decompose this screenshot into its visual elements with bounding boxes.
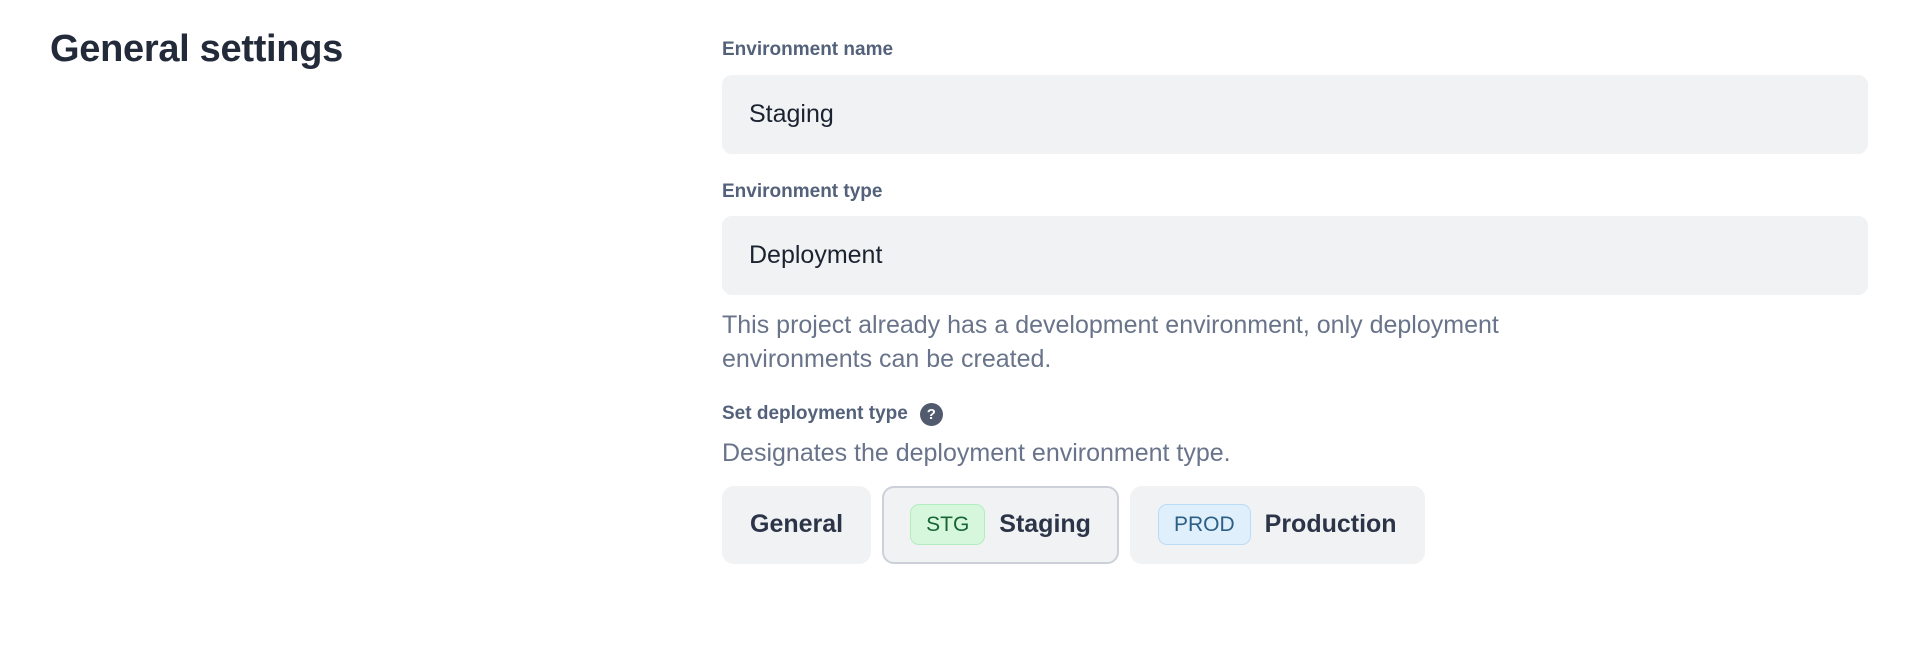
environment-type-label: Environment type (722, 180, 1868, 205)
deployment-type-description: Designates the deployment environment ty… (722, 437, 1868, 470)
stg-badge: STG (910, 504, 985, 545)
environment-name-input[interactable] (722, 75, 1868, 154)
environment-name-field-group: Environment name (722, 38, 1868, 154)
general-settings-page: General settings Environment name Enviro… (0, 0, 1916, 652)
deployment-type-option-label: Staging (999, 510, 1091, 539)
deployment-type-option-general[interactable]: General (722, 486, 871, 564)
deployment-type-label: Set deployment type (722, 402, 908, 427)
environment-type-field-group: Environment type This project already ha… (722, 180, 1868, 376)
deployment-type-options: General STG Staging PROD Production (722, 486, 1868, 564)
deployment-type-option-staging[interactable]: STG Staging (882, 486, 1119, 564)
environment-type-input[interactable] (722, 216, 1868, 295)
question-mark-icon[interactable]: ? (920, 403, 943, 426)
prod-badge: PROD (1158, 504, 1251, 545)
section-heading-column: General settings (50, 26, 670, 74)
page-title: General settings (50, 26, 670, 74)
deployment-type-option-production[interactable]: PROD Production (1130, 486, 1425, 564)
settings-form: Environment name Environment type This p… (722, 38, 1868, 564)
deployment-type-option-label: General (750, 510, 843, 539)
deployment-type-option-label: Production (1265, 510, 1397, 539)
deployment-type-field-group: Set deployment type ? Designates the dep… (722, 402, 1868, 564)
deployment-type-label-row: Set deployment type ? (722, 402, 1868, 427)
environment-type-help-text: This project already has a development e… (722, 309, 1642, 376)
field-spacer (722, 154, 1868, 180)
environment-name-label: Environment name (722, 38, 1868, 63)
